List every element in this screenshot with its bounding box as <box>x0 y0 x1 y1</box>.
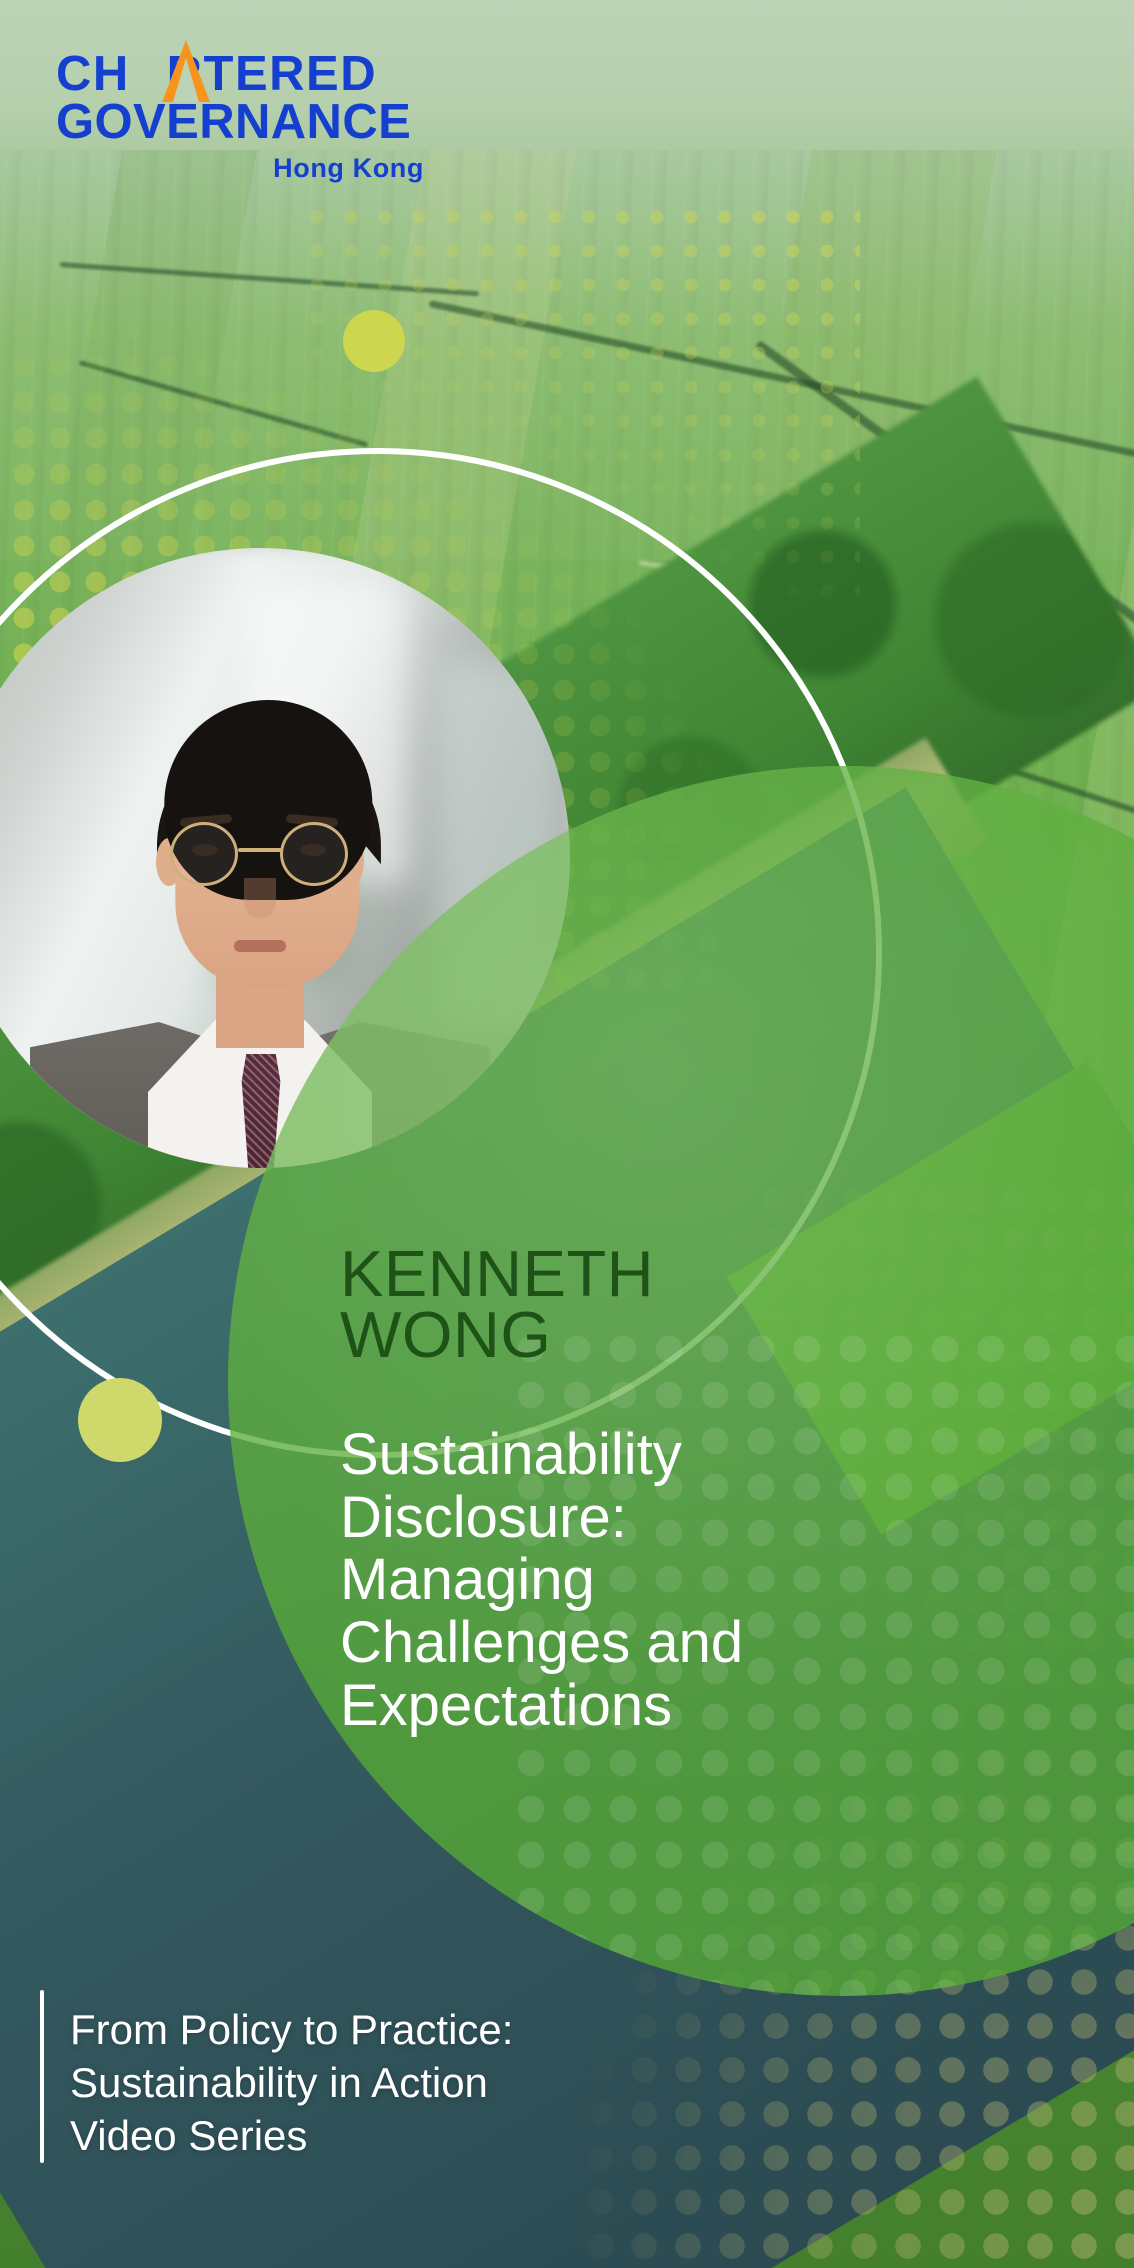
speaker-name: KENNETH WONG <box>340 1243 980 1365</box>
accent-circle-top <box>343 310 405 372</box>
brand-logo[interactable]: CHARTERED GOVERNANCE Hong Kong <box>56 52 496 184</box>
talk-title-line-3: Managing <box>340 1549 1020 1612</box>
series-line-1: From Policy to Practice: <box>70 2004 513 2057</box>
series-line-3: Video Series <box>70 2110 513 2163</box>
accent-circle-bottom-left <box>78 1378 162 1462</box>
logo-chartered-prefix: CH <box>56 47 130 101</box>
logo-line-chartered: CHARTERED <box>56 52 496 97</box>
series-text: From Policy to Practice: Sustainability … <box>70 1990 513 2163</box>
talk-title-line-5: Expectations <box>340 1675 1020 1738</box>
series-vertical-rule <box>40 1990 44 2163</box>
promo-poster: CHARTERED GOVERNANCE Hong Kong KENNETH W… <box>0 0 1134 2268</box>
talk-title-line-1: Sustainability <box>340 1424 1020 1487</box>
green-overlay-circle <box>228 766 1134 1996</box>
talk-title: Sustainability Disclosure: Managing Chal… <box>340 1424 1020 1737</box>
series-line-2: Sustainability in Action <box>70 2057 513 2110</box>
speaker-last-name: WONG <box>340 1304 980 1365</box>
logo-region-label: Hong Kong <box>56 153 496 184</box>
talk-title-line-4: Challenges and <box>340 1612 1020 1675</box>
series-footer: From Policy to Practice: Sustainability … <box>40 1990 513 2163</box>
logo-triangle-a-icon <box>162 40 210 102</box>
logo-line-governance: GOVERNANCE <box>56 100 496 145</box>
speaker-first-name: KENNETH <box>340 1243 980 1304</box>
talk-title-line-2: Disclosure: <box>340 1487 1020 1550</box>
